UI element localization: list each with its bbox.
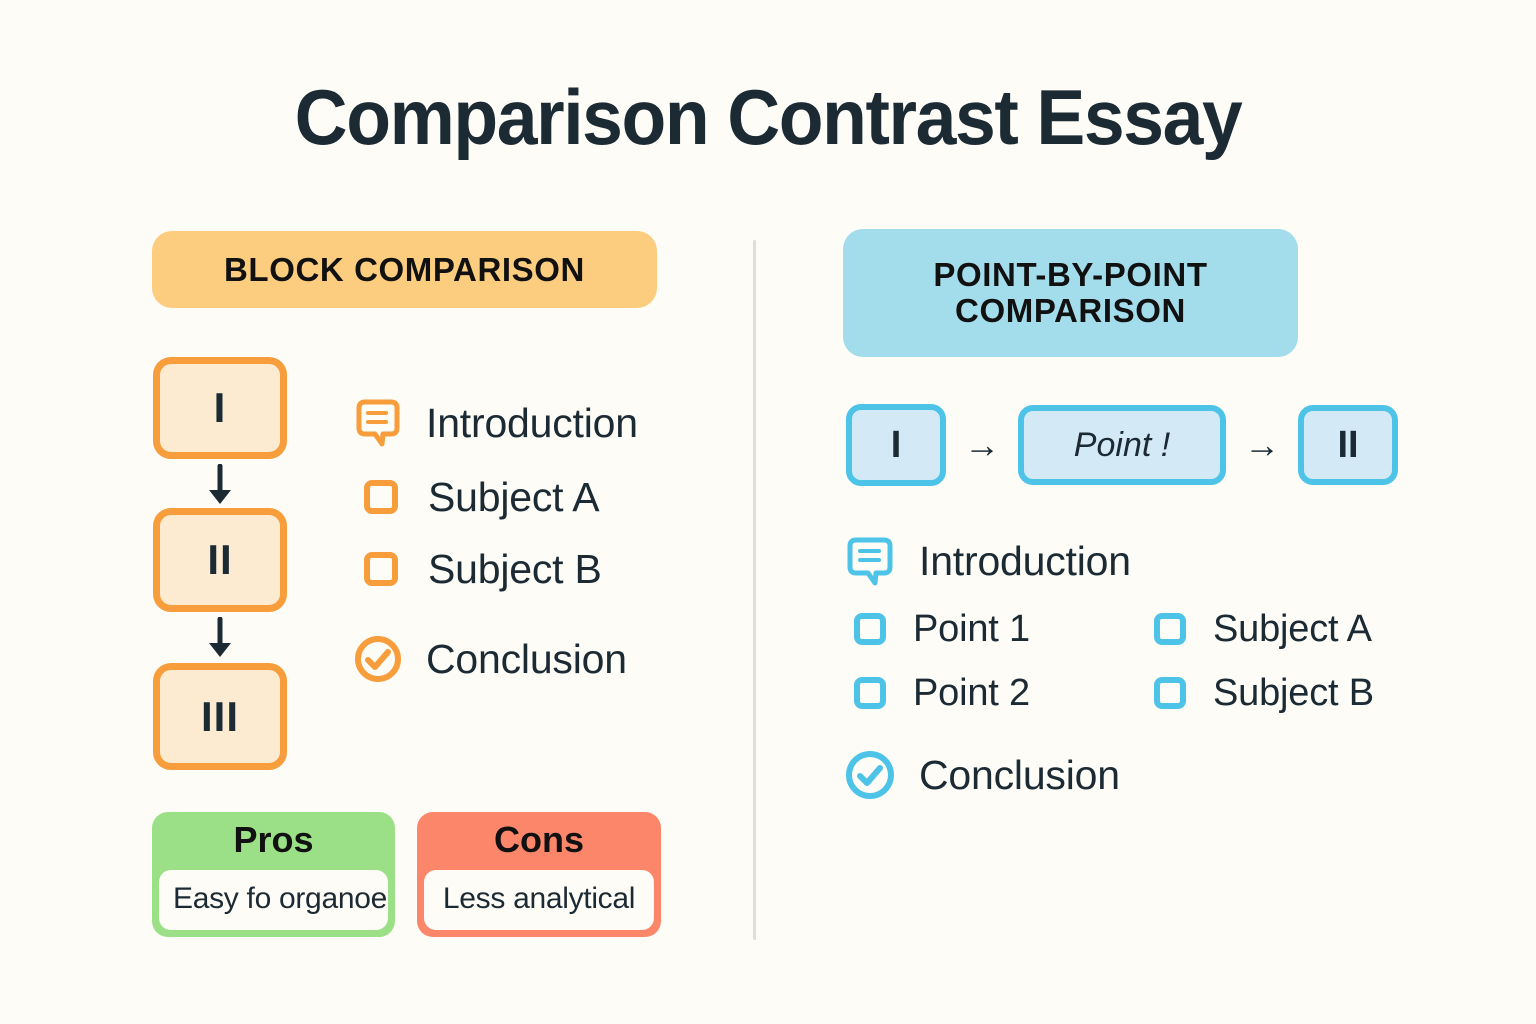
cons-card: Cons Less analytical — [417, 812, 661, 937]
infographic-page: Comparison Contrast Essay BLOCK COMPARIS… — [0, 0, 1536, 1024]
outline-label: Subject B — [428, 546, 602, 593]
cons-text: Less analytical — [424, 870, 654, 930]
checkbox-square-icon — [851, 610, 889, 648]
cons-heading: Cons — [417, 812, 661, 870]
point-outline-list: Introduction Point 1 — [843, 525, 1483, 811]
check-circle-icon — [843, 748, 897, 802]
speech-bubble-icon — [352, 397, 404, 449]
check-circle-icon — [352, 633, 404, 685]
pros-card: Pros Easy fo organoe — [152, 812, 395, 937]
point-subject-grid: Point 1 Subject A — [851, 597, 1483, 725]
grid-label: Subject B — [1213, 672, 1374, 715]
block-comparison-panel: BLOCK COMPARISON I II III — [0, 0, 753, 1024]
checkbox-square-icon — [360, 543, 402, 595]
right-arrow-icon: → — [1240, 424, 1284, 466]
outline-label: Introduction — [426, 400, 638, 447]
block-step-box-3: III — [153, 663, 287, 770]
flow-box-2: II — [1298, 405, 1398, 485]
grid-label: Subject A — [1213, 608, 1372, 651]
block-outline-list: Introduction Subject A Subject B — [352, 385, 702, 697]
grid-label: Point 2 — [913, 672, 1030, 715]
outline-label: Subject A — [428, 474, 599, 521]
outline-item-introduction: Introduction — [843, 525, 1483, 597]
outline-label: Introduction — [919, 538, 1131, 585]
outline-label: Conclusion — [919, 752, 1120, 799]
grid-item-point-2: Point 2 — [851, 661, 1151, 725]
grid-item-subject-a: Subject A — [1151, 597, 1451, 661]
down-arrow-icon — [204, 617, 236, 659]
checkbox-square-icon — [1151, 610, 1189, 648]
block-pros-cons: Pros Easy fo organoe Cons Less analytica… — [152, 812, 661, 937]
block-step-box-2: II — [153, 508, 287, 612]
block-comparison-heading: BLOCK COMPARISON — [152, 231, 657, 308]
point-flow-row: I → Point ! → II — [846, 404, 1398, 486]
outline-item-subject-b: Subject B — [352, 533, 702, 605]
pros-heading: Pros — [152, 812, 395, 870]
checkbox-square-icon — [360, 471, 402, 523]
checkbox-square-icon — [1151, 674, 1189, 712]
right-arrow-icon: → — [960, 424, 1004, 466]
grid-item-subject-b: Subject B — [1151, 661, 1451, 725]
pros-text: Easy fo organoe — [159, 870, 388, 930]
outline-item-introduction: Introduction — [352, 385, 702, 461]
checkbox-square-icon — [851, 674, 889, 712]
block-step-box-1: I — [153, 357, 287, 459]
point-by-point-panel: POINT-BY-POINT COMPARISON I → Point ! → … — [753, 0, 1536, 1024]
outline-label: Conclusion — [426, 636, 627, 683]
point-by-point-heading: POINT-BY-POINT COMPARISON — [843, 229, 1298, 357]
outline-item-conclusion: Conclusion — [352, 621, 702, 697]
flow-box-point: Point ! — [1018, 405, 1226, 485]
flow-box-1: I — [846, 404, 946, 486]
speech-bubble-icon — [843, 534, 897, 588]
down-arrow-icon — [204, 464, 236, 506]
grid-label: Point 1 — [913, 608, 1030, 651]
grid-item-point-1: Point 1 — [851, 597, 1151, 661]
outline-item-conclusion: Conclusion — [843, 739, 1483, 811]
outline-item-subject-a: Subject A — [352, 461, 702, 533]
